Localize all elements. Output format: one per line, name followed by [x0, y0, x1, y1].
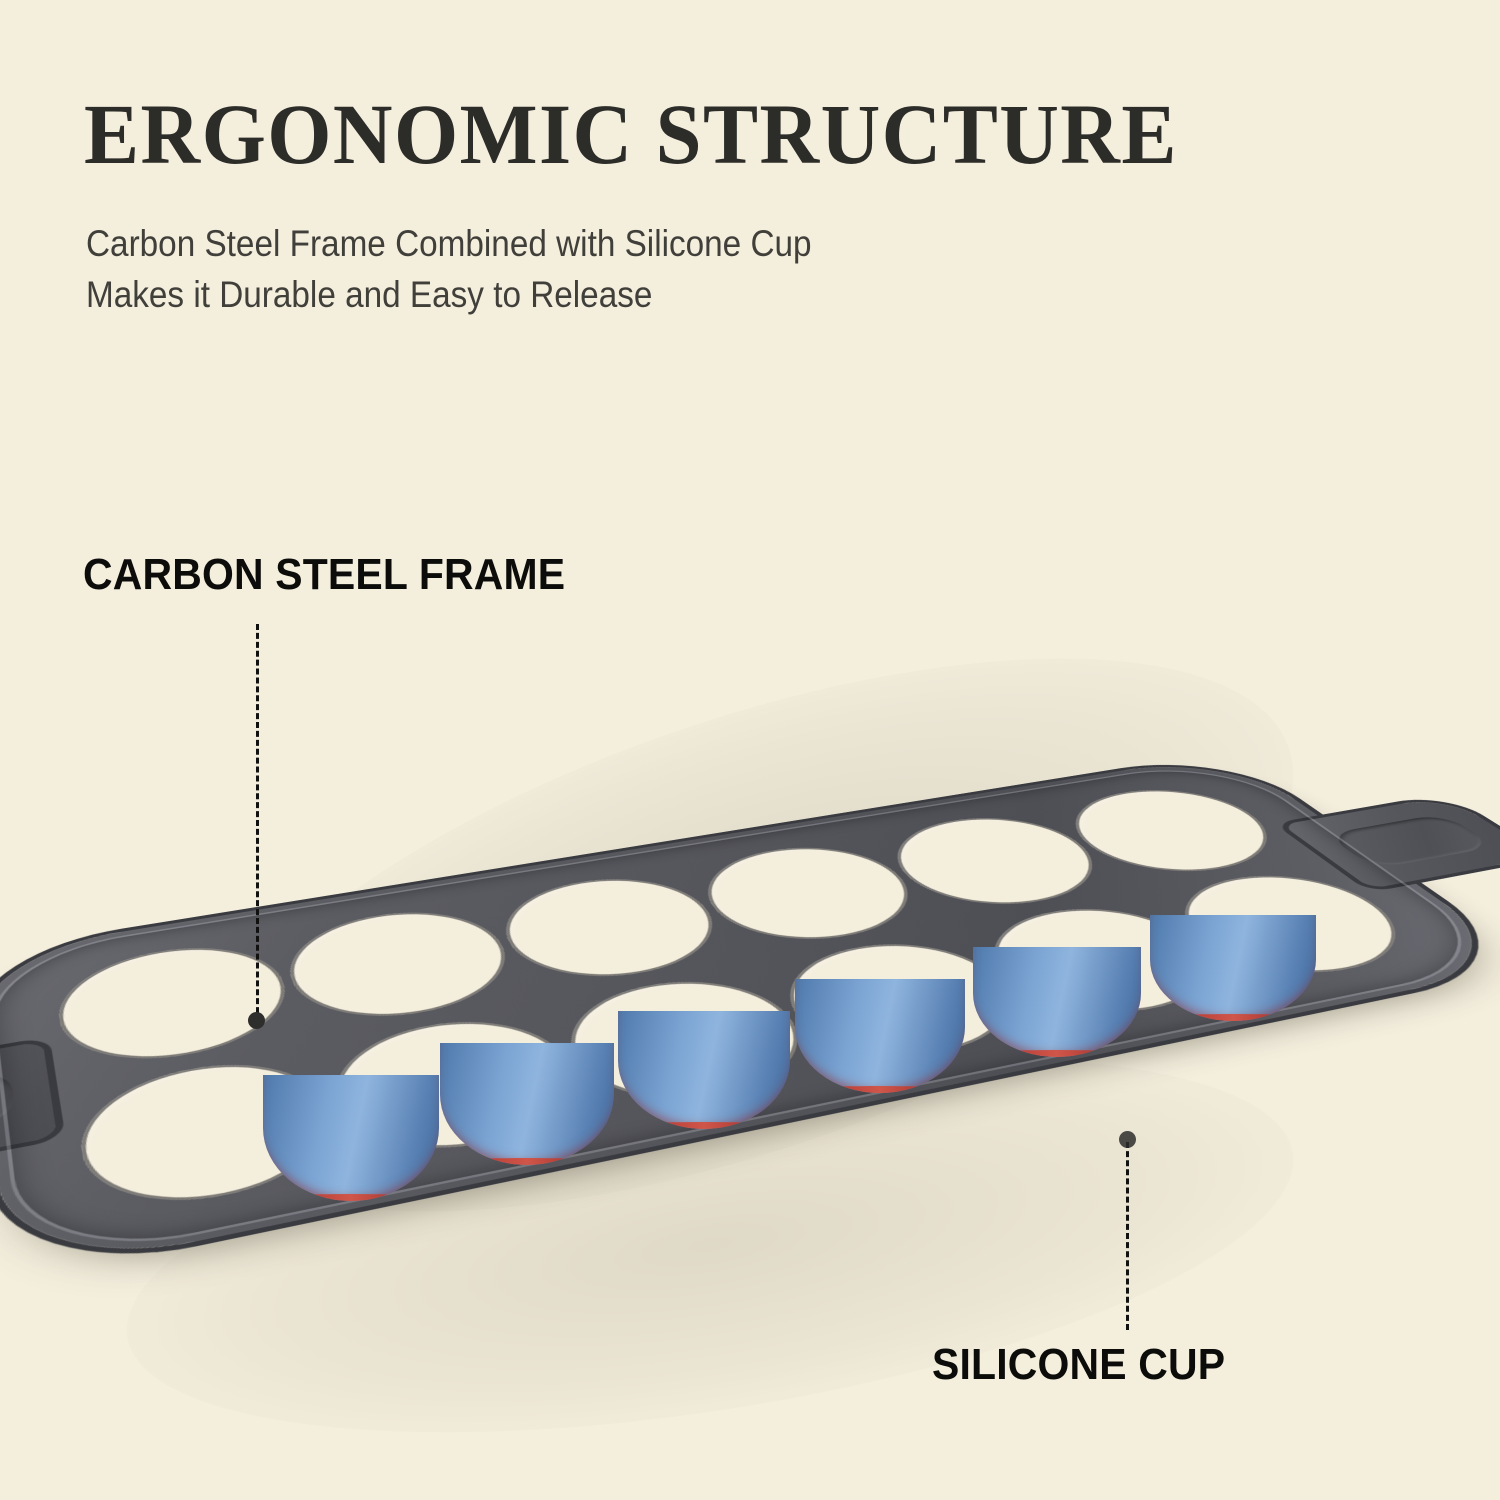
- silicone-cup-gloss: [444, 1032, 527, 1069]
- silicone-tray-plane: [88, 780, 1416, 1222]
- silicone-cup: [690, 852, 914, 954]
- silicone-cup: [757, 935, 1004, 1055]
- silicone-cup-body: [440, 1043, 614, 1165]
- leader-dot-icon-silicone-cup: [1119, 1131, 1136, 1148]
- silicone-cup-inner: [1127, 891, 1304, 968]
- silicone-cup: [152, 937, 371, 1058]
- frame-hole: [484, 867, 741, 991]
- silicone-cup-group: [88, 780, 1171, 957]
- silicone-cup-gloss: [576, 905, 651, 934]
- silicone-cup-rim: [929, 905, 1176, 1019]
- silicone-cup-gloss: [208, 966, 285, 999]
- leader-line-silicone-cup: [1126, 1142, 1129, 1330]
- page-title: ERGONOMIC STRUCTURE: [84, 92, 1178, 176]
- silicone-cup-gloss: [397, 935, 473, 966]
- silicone-cup-rim: [341, 907, 562, 1021]
- silicone-cup-inner: [211, 1053, 383, 1155]
- frame-handle-right: [1282, 796, 1500, 889]
- silicone-cup-body: [618, 1011, 790, 1129]
- silicone-cup-lip: [589, 973, 804, 1085]
- silicone-cup: [520, 879, 743, 987]
- silicone-cup-gloss: [240, 1069, 324, 1108]
- silicone-cup-rim: [152, 937, 371, 1058]
- silicone-cup: [341, 907, 562, 1021]
- silicone-cup: [575, 966, 820, 1093]
- silicone-cup-rim: [383, 999, 626, 1134]
- silicone-cup-inner: [721, 865, 881, 938]
- page-subtitle: Carbon Steel Frame Combined with Silicon…: [86, 218, 812, 320]
- silicone-cup-rim: [1093, 876, 1341, 984]
- frame-hole: [759, 930, 1047, 1071]
- silicone-cup-lip: [771, 941, 988, 1047]
- silicone-cup-lip: [944, 911, 1162, 1011]
- silicone-cup: [1005, 801, 1231, 894]
- frame-hole: [317, 1006, 601, 1167]
- silicone-cup-inner: [550, 893, 709, 970]
- silicone-cup-gloss: [907, 850, 981, 877]
- frame-handle-groove-right: [1325, 813, 1496, 869]
- silicone-cup-gloss: [746, 877, 820, 905]
- frame-hole: [51, 934, 302, 1076]
- frame-cast-shadow: [131, 545, 1358, 1326]
- frame-hole: [682, 836, 941, 953]
- silicone-cup-lip: [192, 1042, 403, 1168]
- silicone-cup-inner: [791, 950, 967, 1036]
- silicone-cup-rim: [1005, 801, 1231, 894]
- silicone-cup-inner: [882, 839, 1043, 908]
- frame-hole: [960, 896, 1249, 1028]
- silicone-cup-lip: [864, 831, 1062, 916]
- silicone-cup-rim: [178, 1034, 418, 1177]
- silicone-cup-rim: [757, 935, 1004, 1055]
- silicone-cup: [929, 905, 1176, 1019]
- frame-hole: [1148, 864, 1438, 988]
- silicone-cup-lip: [703, 857, 900, 947]
- silicone-cup-gloss: [991, 933, 1071, 964]
- silicone-cup-gloss: [819, 964, 900, 997]
- frame-handle-left: [0, 1041, 57, 1188]
- silicone-cup-inner: [371, 922, 529, 1003]
- silicone-cup: [383, 999, 626, 1134]
- frame-hole: [868, 807, 1128, 917]
- frame-hole: [274, 899, 528, 1032]
- carbon-steel-frame-plane: [0, 753, 1500, 1280]
- leader-dot-icon-carbon-steel-frame: [248, 1012, 265, 1029]
- silicone-cup-gloss: [637, 997, 719, 1032]
- carbon-steel-frame-body: [0, 753, 1500, 1280]
- silicone-cup: [851, 826, 1076, 923]
- silicone-cup-lip: [397, 1007, 611, 1126]
- silicone-cup-lip: [1018, 807, 1217, 888]
- silicone-cup-rim: [575, 966, 820, 1093]
- leader-line-carbon-steel-frame: [256, 624, 259, 1022]
- silicone-cup-inner: [964, 920, 1141, 1001]
- silicone-cup-body: [795, 979, 965, 1093]
- silicone-cup-rim: [520, 879, 743, 987]
- callout-label-carbon-steel-frame: CARBON STEEL FRAME: [83, 550, 565, 600]
- ground-shadow: [101, 990, 1318, 1500]
- frame-hole: [1043, 780, 1304, 884]
- frame-hole-group: [0, 753, 1229, 955]
- silicone-cup-body: [1150, 915, 1316, 1021]
- carbon-steel-frame-bevel: [0, 757, 1500, 1270]
- frame-hole: [72, 1048, 351, 1221]
- silicone-cup: [178, 1034, 418, 1177]
- silicone-cup-body: [263, 1075, 439, 1201]
- silicone-cup-body: [973, 947, 1141, 1057]
- silicone-cup: [1093, 876, 1341, 984]
- frame-hole: [545, 967, 831, 1117]
- silicone-tray-body: [88, 780, 1416, 1222]
- silicone-cup-gloss: [1061, 824, 1134, 849]
- silicone-cup-rim: [690, 852, 914, 954]
- silicone-cup-gloss: [1154, 903, 1233, 932]
- silicone-cup-lip: [1107, 882, 1325, 977]
- silicone-cup-lip: [354, 913, 548, 1013]
- silicone-cup-lip: [533, 885, 729, 980]
- silicone-cup-inner: [609, 983, 784, 1074]
- silicone-cup-inner: [1036, 814, 1197, 880]
- silicone-cup-rim: [851, 826, 1076, 923]
- silicone-cup-lip: [165, 944, 357, 1050]
- silicone-cup-inner: [416, 1017, 590, 1113]
- silicone-tray-rail: [114, 790, 1382, 1201]
- frame-handle-groove-left: [0, 1068, 16, 1156]
- callout-label-silicone-cup: SILICONE CUP: [932, 1340, 1225, 1390]
- infographic-canvas: ERGONOMIC STRUCTURE Carbon Steel Frame C…: [0, 0, 1500, 1500]
